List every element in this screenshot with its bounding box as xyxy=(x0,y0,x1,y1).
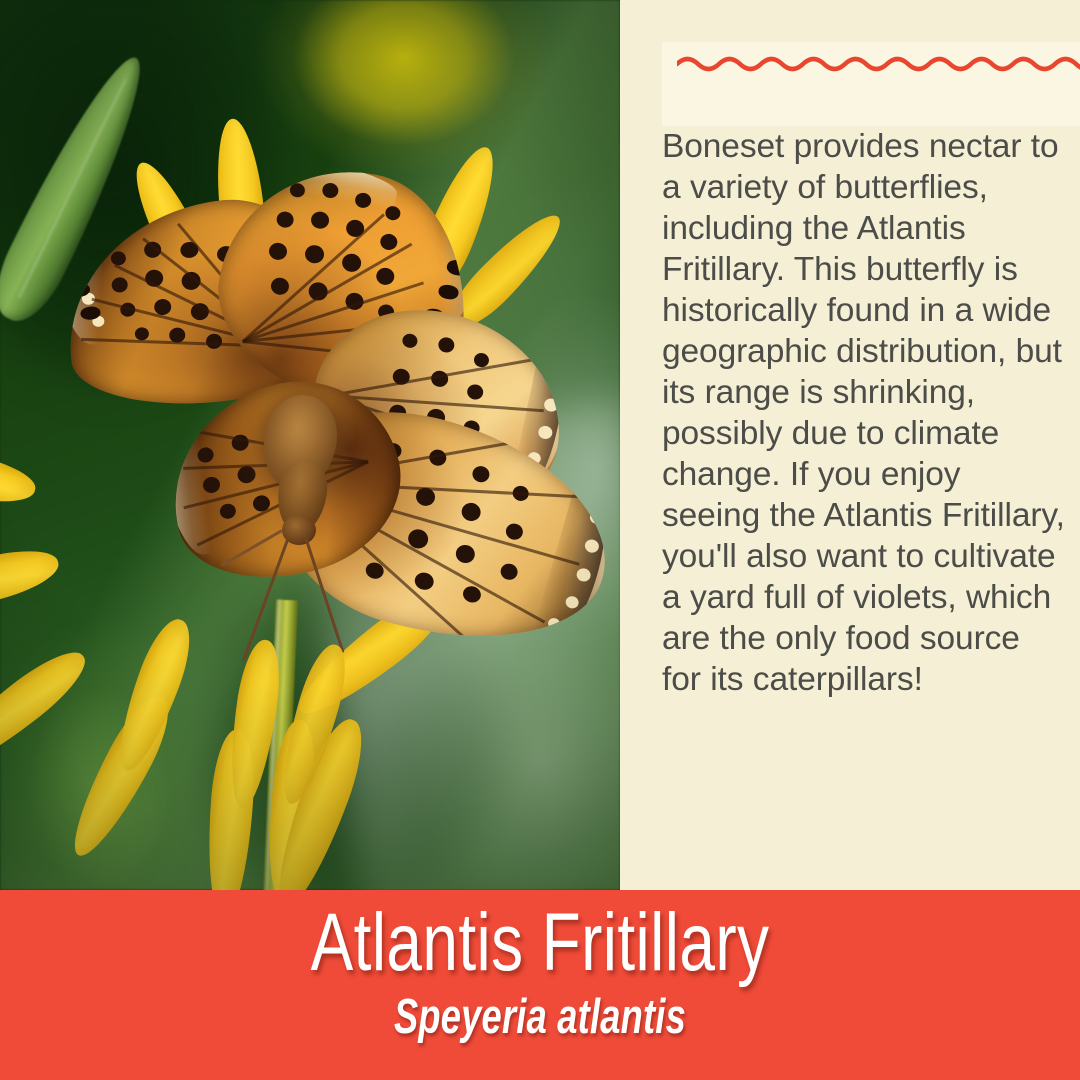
species-description: Boneset provides nectar to a variety of … xyxy=(662,126,1066,700)
scientific-name-subtitle: Speyeria atlantis xyxy=(140,988,939,1046)
thorax-hair-tuft xyxy=(245,378,359,503)
common-name-title: Atlantis Fritillary xyxy=(119,896,961,990)
species-info-card: Boneset provides nectar to a variety of … xyxy=(0,0,1080,1080)
wavy-divider-icon xyxy=(677,50,1080,78)
butterfly-photo xyxy=(0,0,620,890)
info-text-panel: Boneset provides nectar to a variety of … xyxy=(620,0,1080,890)
species-name-banner: Atlantis Fritillary Speyeria atlantis xyxy=(0,890,1080,1080)
atlantis-fritillary-butterfly xyxy=(60,185,590,615)
